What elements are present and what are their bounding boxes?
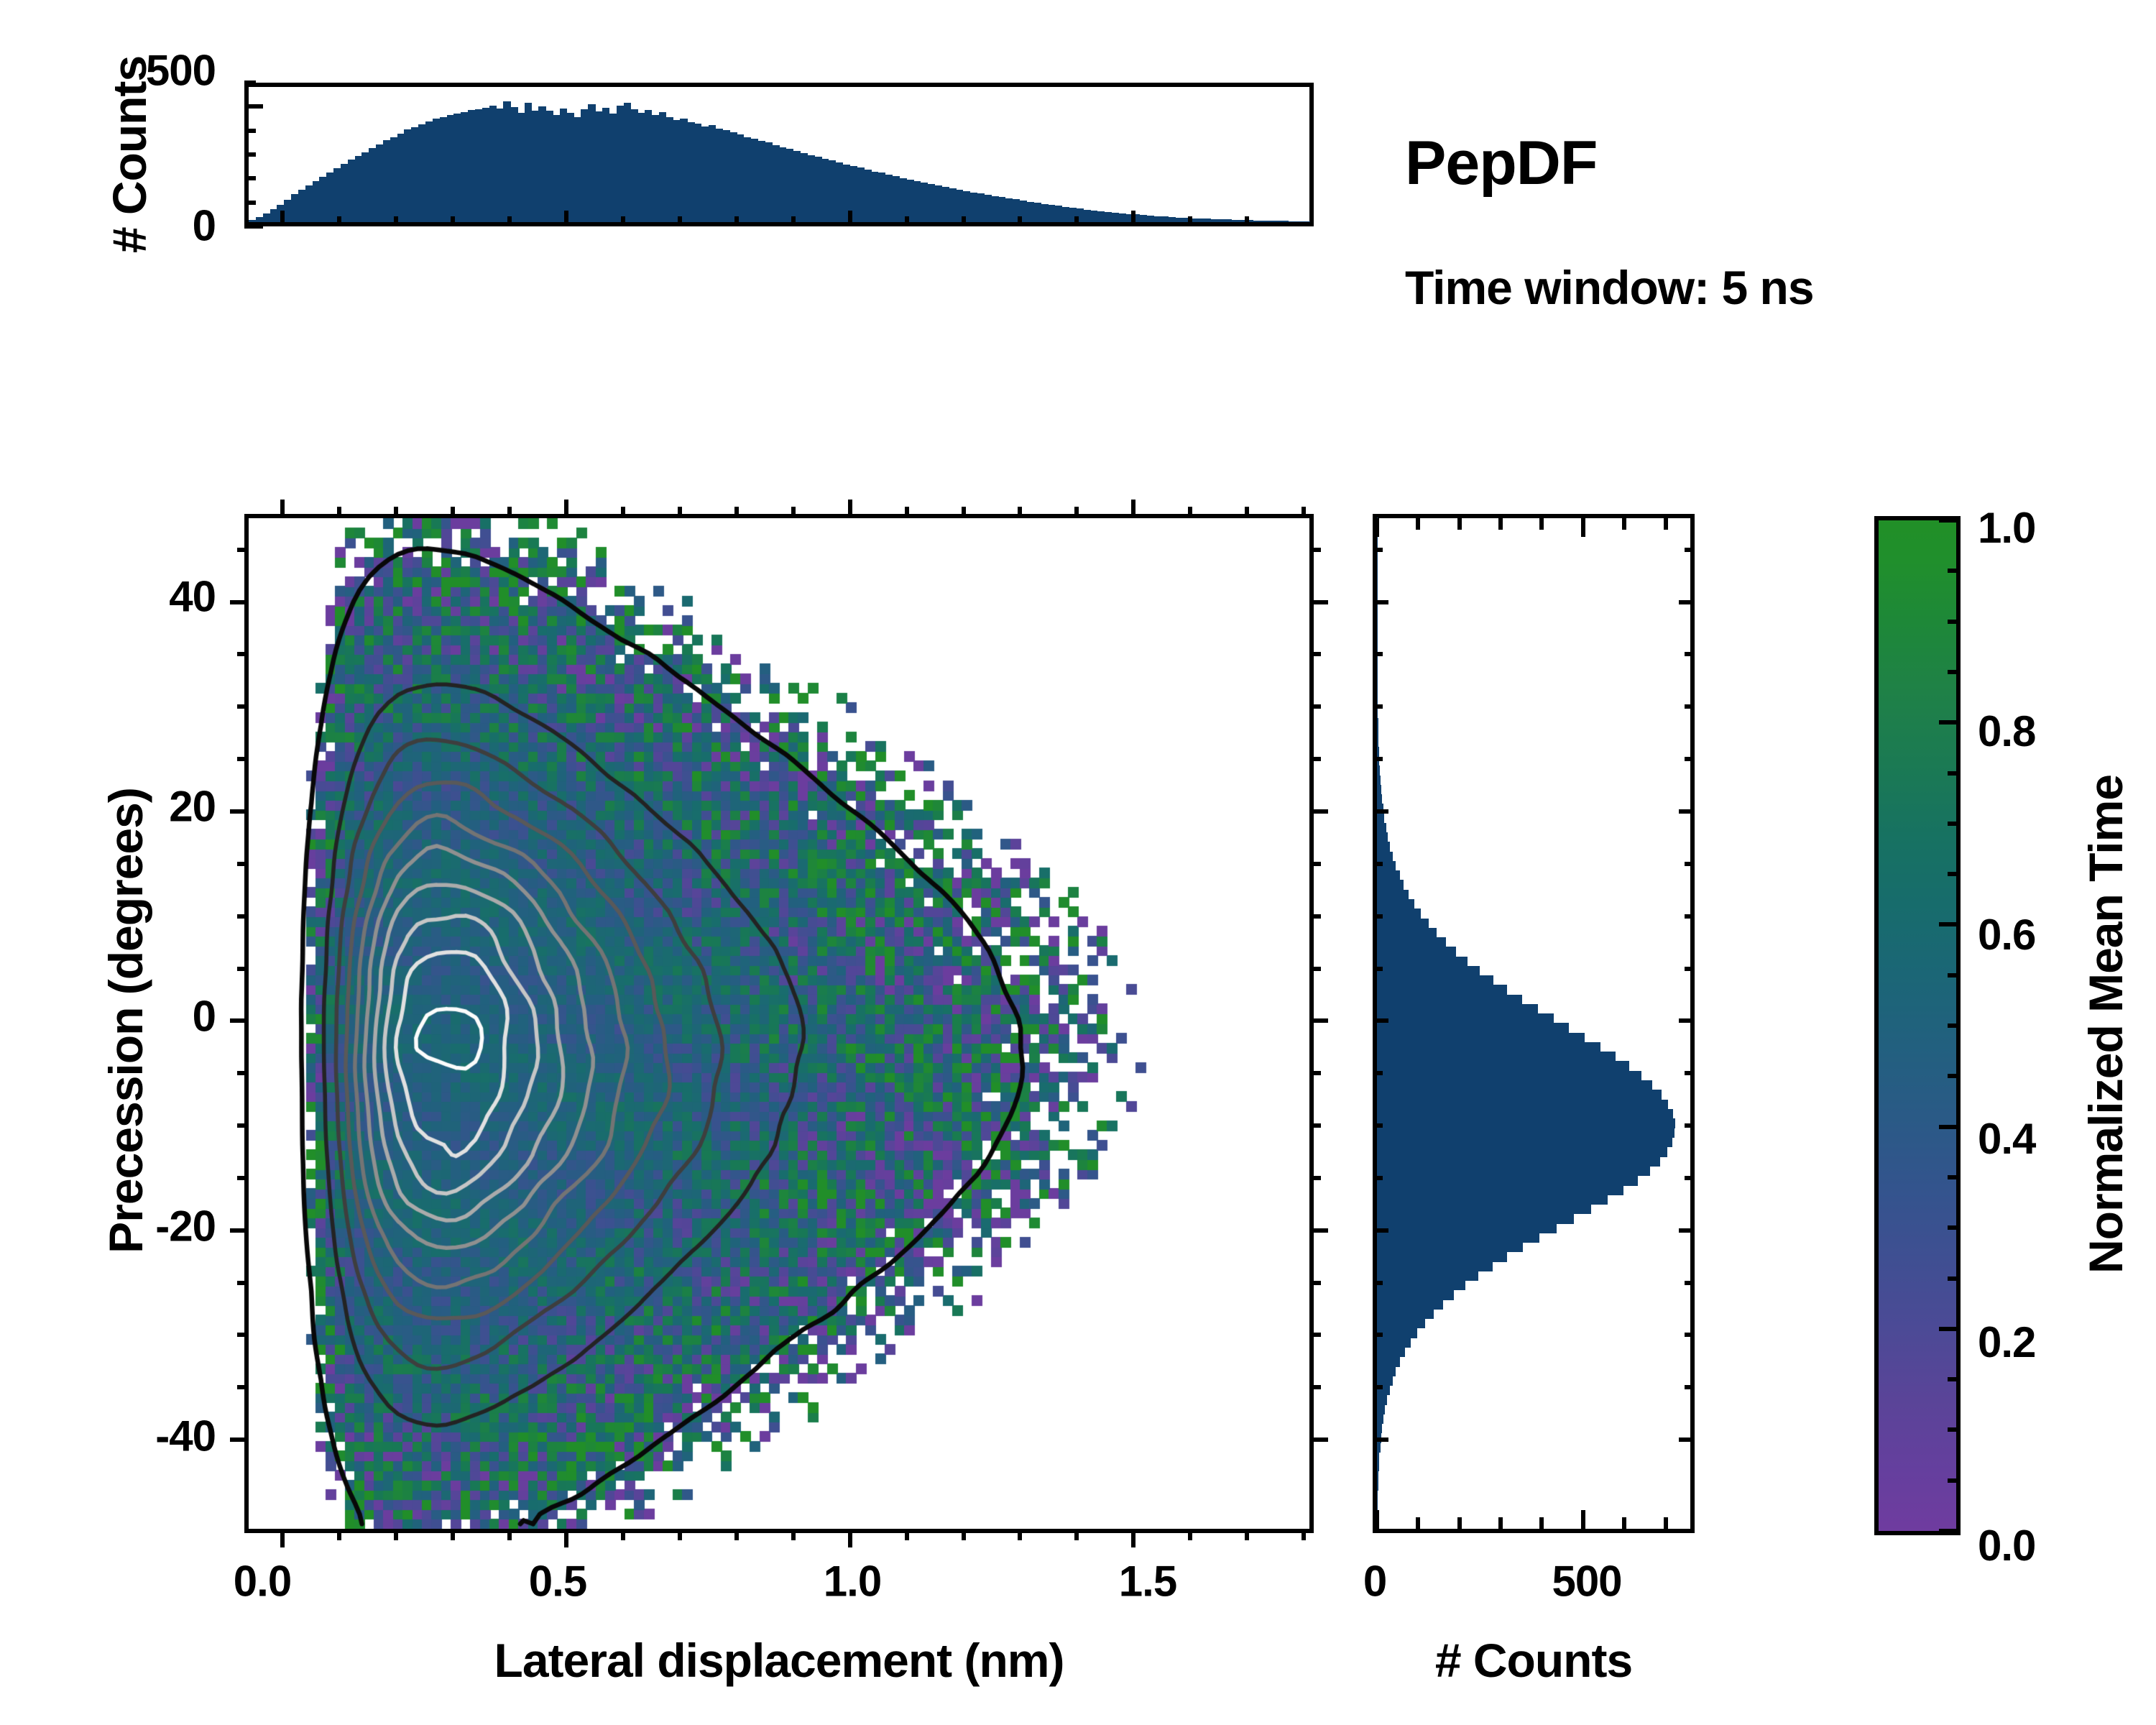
tick-mark [244,176,256,180]
tick-mark [962,216,966,226]
histogram-bar [1377,718,1378,728]
histogram-bar [1377,1013,1554,1023]
histogram-bar [1377,776,1381,786]
histogram-bar [1377,852,1393,862]
tick-mark [1309,914,1321,919]
histogram-bar [1377,880,1404,890]
tick-mark [1131,211,1135,226]
histogram-bar [1377,671,1378,681]
colorbar-tick-0p6: 0.6 [1978,910,2035,960]
tick-mark [1457,518,1462,530]
right-hist-xtick-0: 0 [1363,1557,1386,1606]
histogram-bar [1377,1204,1591,1214]
tick-mark [237,704,249,709]
histogram-bar [1377,1376,1393,1386]
histogram-bar [1377,794,1382,804]
tick-mark [230,600,249,604]
tick-mark [1309,1281,1321,1285]
tick-mark [734,1529,739,1540]
histogram-bar [1377,975,1493,985]
histogram-bar [1377,747,1379,757]
tick-mark [1679,1018,1695,1023]
tick-mark [1309,1385,1321,1389]
tick-mark [507,1529,512,1540]
figure-subtitle: Time window: 5 ns [1405,260,1814,315]
tick-mark [1373,967,1383,971]
tick-mark [280,1529,285,1547]
histogram-bar [1302,221,1309,222]
tick-mark [1948,620,1961,624]
tick-mark [237,1123,249,1128]
tick-mark [237,548,249,552]
tick-mark [1309,1333,1321,1337]
main-ytick-m20: -20 [155,1202,216,1251]
tick-mark [1373,1228,1388,1233]
main-xtick-0p5: 0.5 [529,1557,586,1606]
histogram-bar [1377,1481,1378,1491]
tick-mark [1539,1517,1544,1529]
top-marginal-histogram-panel [244,83,1314,226]
top-hist-ytick-0: 0 [193,201,216,251]
histogram-bar [1377,1309,1434,1319]
histogram-bar [1377,1052,1616,1062]
main-joint-plot-panel [244,514,1314,1533]
tick-mark [1074,216,1079,226]
histogram-bar [1377,622,1378,632]
figure-root: 500 0 # Counts PepDF Time window: 5 ns 4… [0,0,2156,1725]
tick-mark [1309,1437,1328,1442]
tick-mark [451,507,455,518]
histogram-bar [1377,1195,1608,1205]
tick-mark [1188,1529,1192,1540]
tick-mark [962,1529,966,1540]
main-ytick-20: 20 [169,782,216,832]
tick-mark [1685,548,1695,552]
histogram-bar [1377,1500,1378,1510]
tick-mark [1939,518,1961,523]
tick-mark [1416,518,1420,530]
tick-mark [734,216,739,226]
histogram-bar [1377,1452,1379,1462]
tick-mark [1018,216,1022,226]
tick-mark [1245,216,1249,226]
histogram-bar [1377,556,1378,566]
histogram-bar [1377,1166,1650,1176]
histogram-bar [1377,928,1437,938]
right-marginal-histogram-panel [1373,514,1695,1533]
histogram-bar [1377,604,1378,614]
tick-mark [1498,518,1503,530]
tick-mark [1685,1071,1695,1075]
histogram-bar [1377,1271,1478,1281]
tick-mark [621,216,625,226]
histogram-bar [1377,1366,1396,1376]
tick-mark [1498,1517,1503,1529]
tick-mark [1685,757,1695,761]
histogram-bar [1377,1252,1507,1262]
tick-mark [1939,720,1961,724]
tick-mark [678,216,682,226]
tick-mark [1948,1276,1961,1281]
tick-mark [1622,1517,1626,1529]
tick-mark [678,1529,682,1540]
tick-mark [1018,1529,1022,1540]
histogram-bar [1377,1138,1672,1148]
tick-mark [962,507,966,518]
histogram-bar [1377,680,1378,690]
tick-mark [1948,1175,1961,1179]
tick-mark [905,216,909,226]
tick-mark [1373,862,1383,866]
right-hist-xlabel: # Counts [1435,1633,1632,1688]
tick-mark [1679,1437,1695,1442]
colorbar-tick-0p0: 0.0 [1978,1521,2035,1570]
tick-mark [1948,569,1961,573]
tick-mark [230,1018,249,1023]
colorbar-label: Normalized Mean Time [2078,775,2133,1274]
tick-mark [1309,652,1321,656]
histogram-bar [1377,842,1390,852]
tick-mark [394,216,398,226]
tick-mark [337,216,341,226]
histogram-bar [1377,1290,1454,1300]
main-xtick-0p0: 0.0 [234,1557,291,1606]
histogram-bar [1377,1414,1383,1424]
histogram-bar [1377,1242,1523,1252]
tick-mark [1939,1327,1961,1331]
tick-mark [1309,757,1321,761]
main-xtick-1p0: 1.0 [824,1557,881,1606]
tick-mark [1581,1510,1585,1529]
histogram-bar [1377,814,1384,824]
tick-mark [564,500,568,518]
tick-mark [1373,1333,1383,1337]
histogram-bar [1377,1404,1385,1414]
tick-mark [1939,922,1961,926]
tick-mark [244,104,263,109]
main-xlabel: Lateral displacement (nm) [494,1633,1064,1688]
histogram-bar [1377,823,1386,833]
tick-mark [237,757,249,761]
histogram-bar [1377,1347,1405,1357]
right-hist-xtick-500: 500 [1552,1557,1621,1606]
histogram-bar [1377,1462,1379,1472]
tick-mark [1309,1018,1328,1023]
tick-mark [1373,1437,1388,1442]
tick-mark [230,1437,249,1442]
tick-mark [1309,967,1321,971]
tick-mark [451,1529,455,1540]
tick-mark [791,1529,796,1540]
tick-mark [451,216,455,226]
tick-mark [1309,1228,1328,1233]
histogram-bar [1377,566,1378,576]
tick-mark [791,216,796,226]
histogram-bar [1377,584,1378,594]
tick-mark [1685,967,1695,971]
histogram-bar [1377,1033,1585,1043]
tick-mark [564,211,568,226]
histogram-bar [1377,1100,1668,1110]
tick-mark [1373,1176,1383,1180]
histogram-bar [1377,1233,1539,1243]
tick-mark [1245,1529,1249,1540]
top-hist-ylabel: # Counts [102,56,157,253]
right-histogram-bars [1377,518,1690,1529]
histogram-bar [1377,890,1409,900]
tick-mark [1948,1225,1961,1230]
histogram-bar [1377,1147,1667,1157]
tick-mark [237,1385,249,1389]
histogram-bar [1377,1299,1443,1310]
tick-mark [1948,1074,1961,1078]
histogram-bar [1377,1004,1538,1014]
tick-mark [237,1281,249,1285]
tick-mark [244,80,256,85]
tick-mark [678,507,682,518]
histogram-bar [1377,832,1388,842]
tick-mark [1948,670,1961,674]
tick-mark [1309,809,1328,814]
main-ytick-0: 0 [193,992,216,1041]
histogram-bar [1377,985,1507,995]
colorbar-tick-0p2: 0.2 [1978,1317,2035,1367]
tick-mark [848,211,852,226]
tick-mark [1539,518,1544,530]
tick-mark [244,201,256,205]
tick-mark [564,1529,568,1547]
tick-mark [244,152,256,157]
tick-mark [1948,771,1961,776]
tick-mark [1948,822,1961,826]
tick-mark [1685,1385,1695,1389]
histogram-bar [1377,785,1381,795]
tick-mark [237,862,249,866]
tick-mark [244,224,263,229]
histogram-bar [1377,1328,1417,1338]
histogram-bar [1377,537,1378,547]
tick-mark [1679,600,1695,604]
histogram-bar [1377,1357,1400,1367]
tick-mark [1245,507,1249,518]
tick-mark [237,1071,249,1075]
histogram-bar [1377,661,1378,671]
tick-mark [1664,518,1668,530]
tick-mark [1373,809,1388,814]
tick-mark [1948,1478,1961,1483]
tick-mark [1685,652,1695,656]
histogram-bar [1377,1185,1623,1195]
histogram-bar [1377,870,1400,880]
figure-title: PepDF [1405,128,1597,199]
histogram-bar [1377,737,1378,747]
tick-mark [848,1529,852,1547]
histogram-bar [1377,709,1378,719]
tick-mark [244,129,256,133]
tick-mark [1664,1517,1668,1529]
main-xtick-1p5: 1.5 [1119,1557,1176,1606]
tick-mark [237,967,249,971]
tick-mark [1373,652,1383,656]
tick-mark [1679,809,1695,814]
tick-mark [1416,1517,1420,1529]
tick-mark [1685,1123,1695,1128]
tick-mark [1373,1071,1383,1075]
histogram-bar [1377,642,1378,652]
tick-mark [1581,518,1585,537]
tick-mark [507,507,512,518]
histogram-bar [1377,1023,1569,1033]
tick-mark [1685,1176,1695,1180]
tick-mark [280,211,285,226]
histogram-bar [1377,899,1414,909]
tick-mark [1948,872,1961,876]
tick-mark [1948,973,1961,977]
histogram-bar [1377,1443,1381,1453]
main-ytick-m40: -40 [155,1412,216,1461]
tick-mark [1375,518,1379,537]
tick-mark [1302,1529,1306,1540]
tick-mark [1948,1427,1961,1432]
histogram-bar [1377,1319,1425,1329]
tick-mark [1188,216,1192,226]
tick-mark [734,507,739,518]
tick-mark [1948,1023,1961,1028]
tick-mark [394,1529,398,1540]
histogram-bar [1377,908,1421,919]
colorbar-tick-0p8: 0.8 [1978,707,2035,756]
histogram-bar [1377,1156,1660,1167]
tick-mark [1373,757,1383,761]
tick-mark [237,1176,249,1180]
histogram-bar [1377,1090,1662,1100]
tick-mark [1685,862,1695,866]
histogram-bar [1377,575,1378,585]
tick-mark [1373,1123,1383,1128]
histogram-bar [1377,1109,1673,1119]
tick-mark [280,500,285,518]
histogram-bar [1377,1424,1382,1434]
tick-mark [1679,1228,1695,1233]
tick-mark [848,500,852,518]
tick-mark [1373,1018,1388,1023]
tick-mark [791,507,796,518]
tick-mark [1309,704,1321,709]
tick-mark [237,652,249,656]
tick-mark [1309,1123,1321,1128]
main-ylabel: Precession (degrees) [98,788,153,1253]
tick-mark [1074,507,1079,518]
histogram-bar [1377,1214,1574,1224]
histogram-bar [1377,957,1468,967]
histogram-bar [1377,1395,1387,1405]
tick-mark [1948,1377,1961,1381]
tick-mark [1309,1071,1321,1075]
colorbar-tick-1p0: 1.0 [1978,503,2035,553]
tick-mark [1373,600,1388,604]
tick-mark [1939,1529,1961,1533]
tick-mark [1131,1529,1135,1547]
tick-mark [621,1529,625,1540]
tick-mark [1074,1529,1079,1540]
tick-mark [1373,1385,1383,1389]
histogram-bar [1377,1071,1641,1081]
tick-mark [1622,518,1626,530]
tick-mark [337,507,341,518]
tick-mark [237,1333,249,1337]
histogram-bar [1377,1061,1629,1071]
tick-mark [1309,600,1328,604]
tick-mark [1188,507,1192,518]
histogram-bar [1377,947,1456,957]
histogram-bar [1377,1118,1675,1128]
histogram-bar [1377,966,1480,976]
tick-mark [507,216,512,226]
tick-mark [1309,548,1321,552]
histogram-bar [1377,919,1429,929]
top-histogram-bars [249,87,1309,222]
histogram-bar [1377,613,1378,623]
tick-mark [1939,1125,1961,1129]
tick-mark [1373,704,1383,709]
tick-mark [1302,507,1306,518]
tick-mark [1309,862,1321,866]
tick-mark [1375,1510,1379,1529]
histogram-bar [1377,1338,1411,1348]
main-ytick-40: 40 [169,572,216,622]
tick-mark [394,507,398,518]
tick-mark [905,507,909,518]
tick-mark [1373,548,1383,552]
histogram-bar [1377,1223,1557,1233]
histogram-bar [1377,937,1446,947]
tick-mark [1373,914,1383,919]
tick-mark [1457,1517,1462,1529]
tick-mark [1685,914,1695,919]
tick-mark [905,1529,909,1540]
histogram-bar [1377,1281,1465,1291]
histogram-bar [1377,632,1378,643]
tick-mark [1309,1176,1321,1180]
tick-mark [1018,507,1022,518]
colorbar-tick-0p4: 0.4 [1978,1114,2035,1164]
joint-heatmap-canvas [249,518,1309,1529]
histogram-bar [1377,1471,1378,1481]
histogram-bar [1377,1261,1493,1271]
histogram-bar [1377,727,1378,737]
histogram-bar [1377,1128,1674,1138]
tick-mark [337,1529,341,1540]
tick-mark [1685,704,1695,709]
tick-mark [1685,1281,1695,1285]
tick-mark [1131,500,1135,518]
histogram-bar [1377,1042,1600,1052]
tick-mark [1373,1281,1383,1285]
histogram-bar [1377,765,1380,776]
tick-mark [621,507,625,518]
histogram-bar [1377,1080,1652,1090]
tick-mark [230,809,249,814]
tick-mark [1685,1333,1695,1337]
histogram-bar [1377,1176,1638,1186]
tick-mark [237,914,249,919]
tick-mark [230,1228,249,1233]
histogram-bar [1377,995,1522,1005]
histogram-bar [1377,1490,1378,1500]
histogram-bar [1377,689,1378,699]
